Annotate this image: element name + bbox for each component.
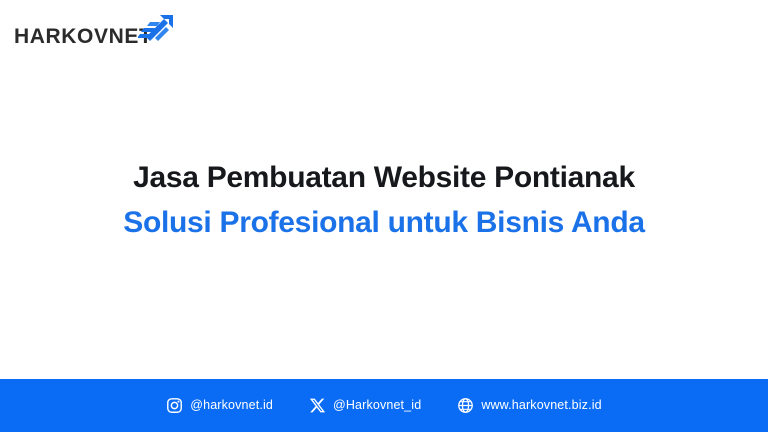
footer-contact-bar: @harkovnet.id @Harkovnet_id www.harkovne… (0, 379, 768, 432)
brand-wordmark: HARKOVNET (14, 26, 152, 47)
footer-item-x-twitter[interactable]: @Harkovnet_id (309, 397, 421, 414)
globe-icon (457, 397, 474, 414)
footer-label-instagram: @harkovnet.id (190, 399, 273, 412)
brand-logo[interactable]: HARKOVNET (14, 12, 178, 47)
hero-headline-block: Jasa Pembuatan Website Pontianak Solusi … (0, 160, 768, 241)
footer-item-instagram[interactable]: @harkovnet.id (166, 397, 273, 414)
x-twitter-icon (309, 397, 326, 414)
footer-item-website[interactable]: www.harkovnet.biz.id (457, 397, 601, 414)
footer-label-website: www.harkovnet.biz.id (481, 399, 601, 412)
hero-headline-secondary: Solusi Profesional untuk Bisnis Anda (40, 205, 728, 240)
growth-arrow-icon (152, 12, 178, 42)
footer-label-x-twitter: @Harkovnet_id (333, 399, 421, 412)
hero-headline-primary: Jasa Pembuatan Website Pontianak (40, 160, 728, 195)
instagram-icon (166, 397, 183, 414)
